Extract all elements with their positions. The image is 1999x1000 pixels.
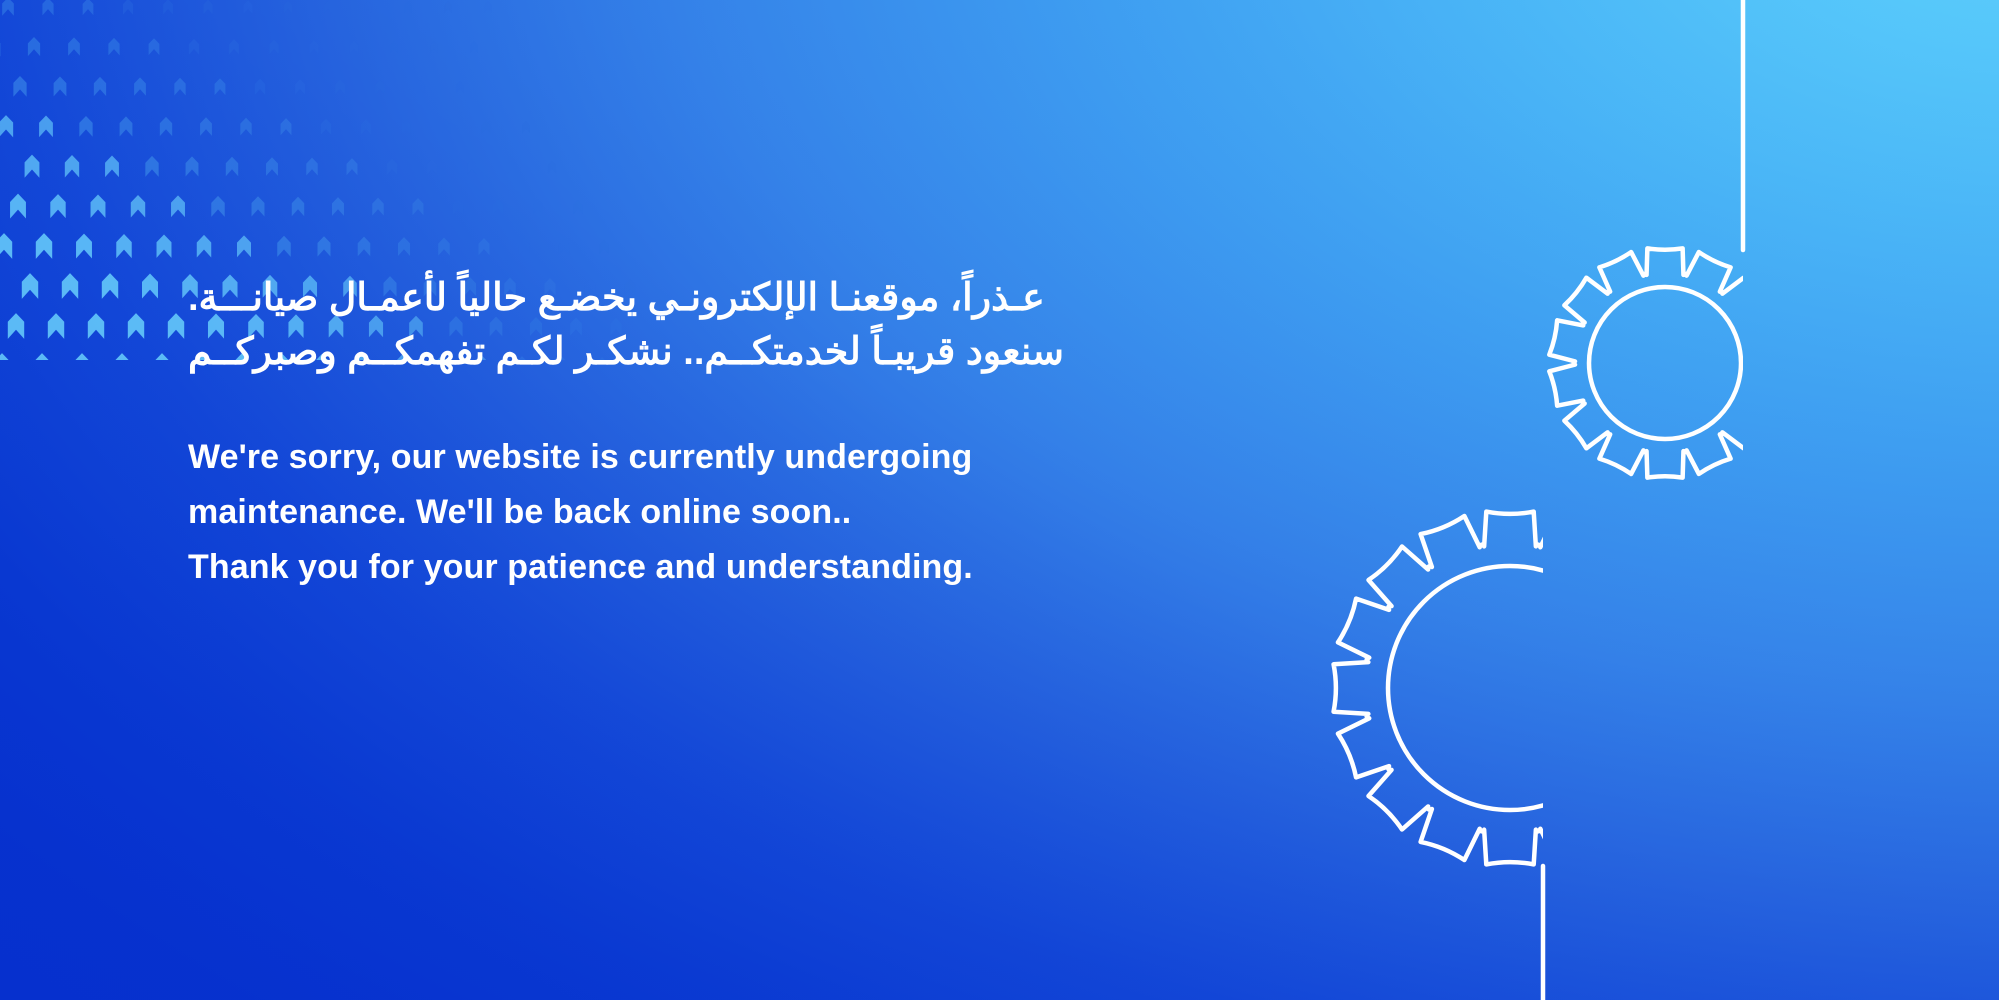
arabic-message: عـذراً، موقعنـا الإلكترونـي يخضـع حالياً… [188,272,1238,380]
maintenance-page: عـذراً، موقعنـا الإلكترونـي يخضـع حالياً… [0,0,1999,1000]
arabic-line-2: سنعود قريبـاً لخدمتكــم.. نشكـر لكـم تفه… [188,326,1238,380]
arabic-line-1: عـذراً، موقعنـا الإلكترونـي يخضـع حالياً… [188,272,1238,326]
english-line-1: We're sorry, our website is currently un… [188,430,1238,485]
english-line-2: maintenance. We'll be back online soon.. [188,485,1238,540]
message-block: عـذراً، موقعنـا الإلكترونـي يخضـع حالياً… [188,272,1238,595]
english-message: We're sorry, our website is currently un… [188,430,1238,595]
english-line-3: Thank you for your patience and understa… [188,540,1238,595]
